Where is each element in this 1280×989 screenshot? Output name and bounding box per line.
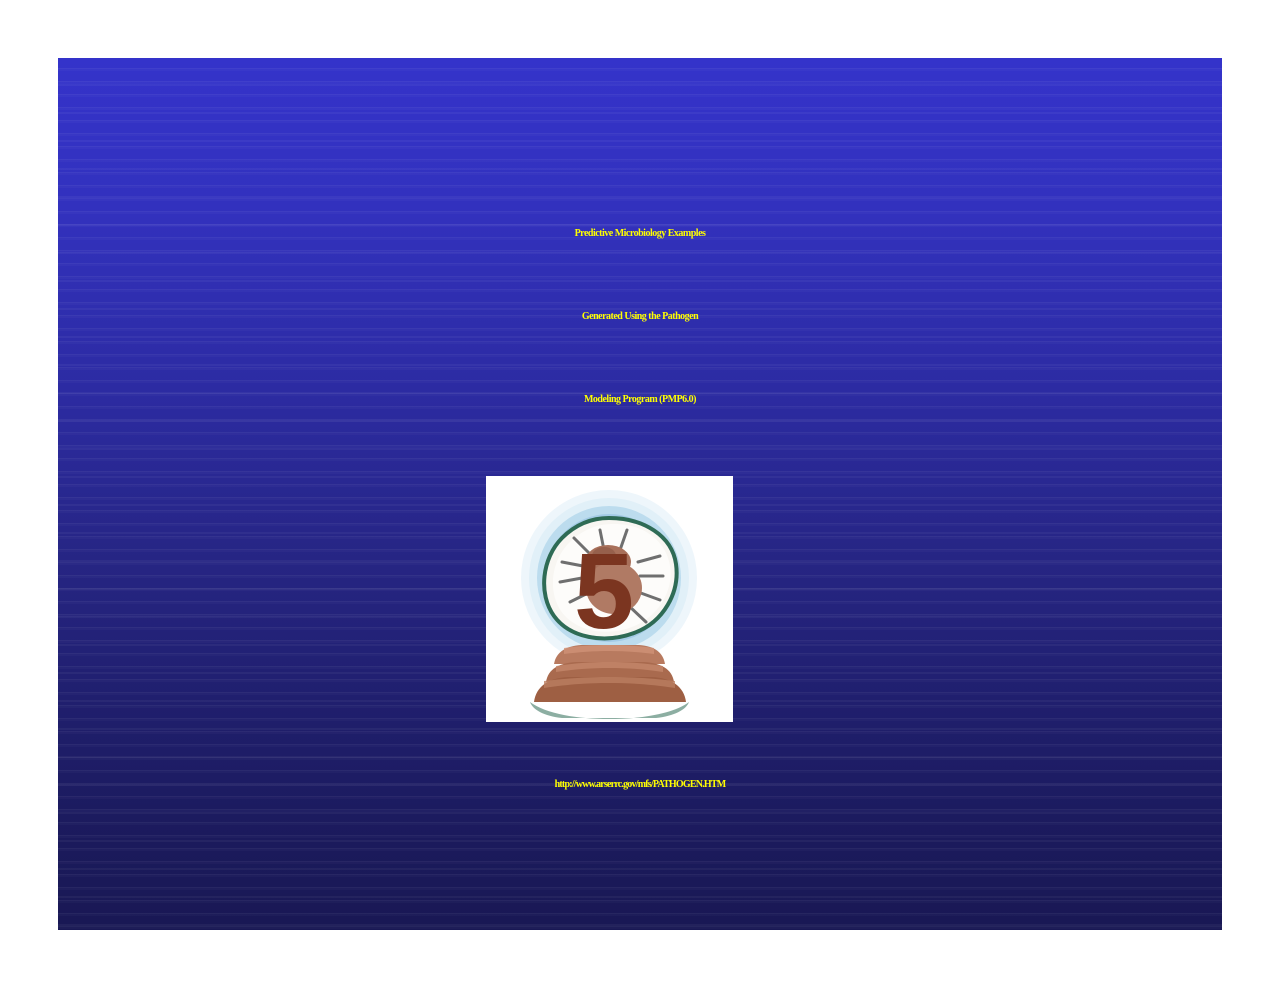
title-line-1: Predictive Microbiology Examples [58,192,1222,275]
crystal-ball-icon: 5 [486,476,733,722]
url-text[interactable]: http://www.arserrc.gov/mfs/PATHOGEN.HTM [58,752,1222,818]
slide-url: http://www.arserrc.gov/mfs/PATHOGEN.HTM [58,752,1222,818]
title-line-2: Generated Using the Pathogen [58,275,1222,358]
slide-canvas: Predictive Microbiology Examples Generat… [58,58,1222,930]
crystal-ball-image: 5 [486,476,733,722]
title-line-3: Modeling Program (PMP6.0) [58,358,1222,441]
slide-title: Predictive Microbiology Examples Generat… [58,192,1222,441]
crystal-ball-number: 5 [574,530,634,651]
